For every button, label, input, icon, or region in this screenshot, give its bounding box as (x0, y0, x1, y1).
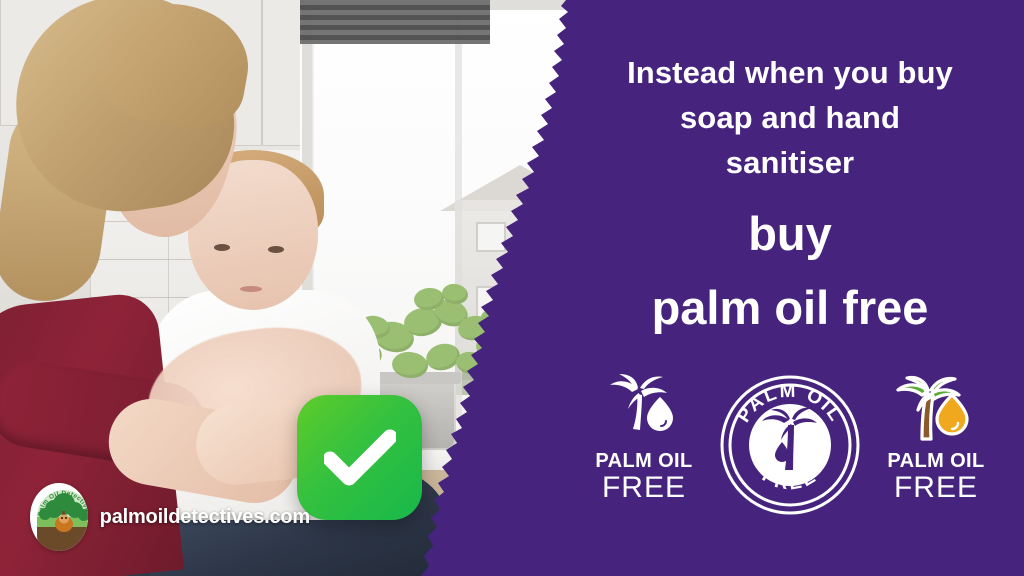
palm-tree-droplet-stamp-icon: PALM OIL FREE (719, 374, 861, 516)
palm-tree-droplet-colour-icon (888, 372, 984, 446)
poster-canvas: Instead when you buy soap and hand sanit… (0, 0, 1024, 576)
checkmark-icon (324, 428, 396, 488)
brand-footer[interactable]: Palm Oil Detectives palmoildetectives.co… (30, 481, 310, 553)
cta-line-buy: buy (556, 208, 1024, 260)
website-url[interactable]: palmoildetectives.com (100, 506, 310, 529)
logo1-caption-top: PALM OIL (595, 450, 692, 472)
logo-palm-oil-free-stamp: PALM OIL FREE (715, 372, 865, 516)
logo1-caption-bottom: FREE (602, 472, 686, 504)
headline-block: Instead when you buy soap and hand sanit… (556, 50, 1024, 185)
certification-logo-row: PALM OIL FREE PALM OIL (556, 372, 1024, 532)
headline-line-3: sanitiser (556, 140, 1024, 185)
logo-palm-oil-free-colour: PALM OIL FREE (866, 372, 1006, 504)
headline-line-2: soap and hand (556, 95, 1024, 140)
palm-oil-detectives-logo[interactable]: Palm Oil Detectives (30, 483, 88, 551)
logo3-caption-bottom: FREE (894, 472, 978, 504)
logo3-caption-top: PALM OIL (887, 450, 984, 472)
logo-palm-oil-free-white: PALM OIL FREE (574, 372, 714, 504)
approved-check-badge (297, 395, 422, 520)
headline-line-1: Instead when you buy (556, 50, 1024, 95)
message-panel: Instead when you buy soap and hand sanit… (556, 0, 1024, 576)
palm-tree-droplet-icon (598, 372, 690, 446)
cta-line-palm-oil-free: palm oil free (556, 282, 1024, 334)
